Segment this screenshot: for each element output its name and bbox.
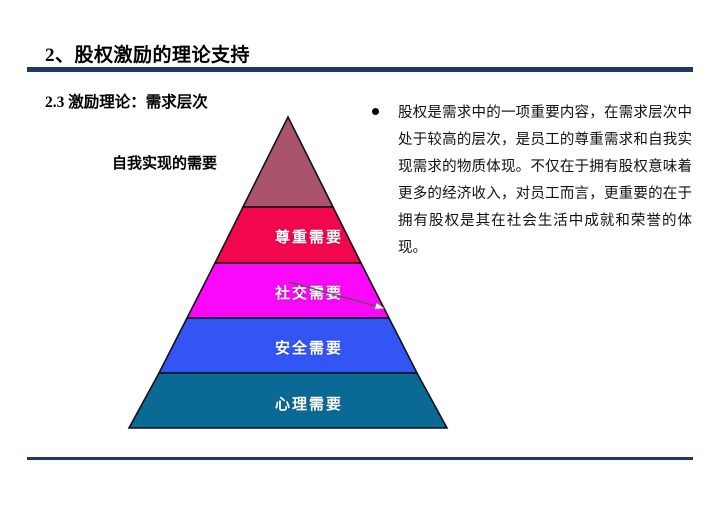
- section-subtitle: 2.3 激励理论：需求层次: [45, 90, 208, 112]
- pyramid-tier-self-actualization[interactable]: [243, 117, 333, 207]
- slide-canvas: 2、股权激励的理论支持 2.3 激励理论：需求层次 尊重需要 社交需要 安全需要…: [0, 0, 720, 510]
- page-title: 2、股权激励的理论支持: [45, 40, 250, 67]
- callout-arrow-icon: [287, 278, 397, 318]
- footer-divider: [27, 457, 693, 460]
- body-text-block: 股权是需求中的一项重要内容，在需求层次中处于较高的层次，是员工的尊重需求和自我实…: [372, 100, 692, 262]
- pyramid-tier-safety[interactable]: [159, 318, 417, 373]
- body-paragraph: 股权是需求中的一项重要内容，在需求层次中处于较高的层次，是员工的尊重需求和自我实…: [372, 100, 692, 262]
- bullet-icon: [372, 108, 379, 115]
- pyramid-tier-physiological[interactable]: [129, 373, 447, 428]
- pyramid-callout-label: 自我实现的需要: [112, 152, 217, 173]
- header-divider: [27, 67, 693, 72]
- pyramid-tier-esteem[interactable]: [215, 207, 361, 263]
